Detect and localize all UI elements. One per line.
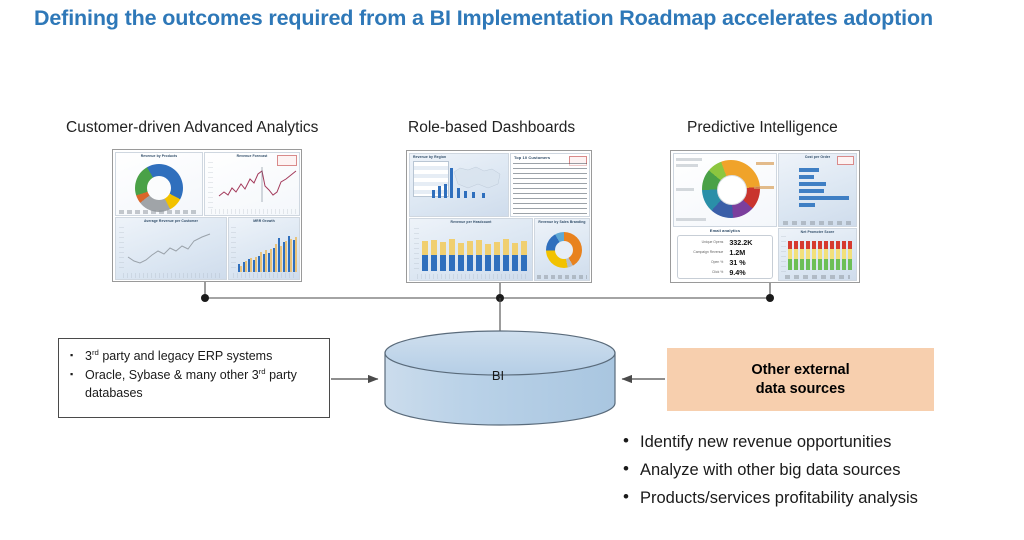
bullet-rest: party and legacy ERP systems [99,349,272,363]
erp-sources-box: 3rd party and legacy ERP systems Oracle,… [58,338,330,418]
list-item: Analyze with other big data sources [640,456,1018,484]
bullet-prefix: Oracle, Sybase & many other 3 [85,368,259,382]
connector-node [201,294,209,302]
bi-label: BI [383,368,613,383]
benefits-list: Identify new revenue opportunities Analy… [618,428,1018,512]
connector-node [766,294,774,302]
list-item: Identify new revenue opportunities [640,428,1018,456]
erp-sources-list: 3rd party and legacy ERP systems Oracle,… [59,339,329,402]
bullet-superscript: rd [259,367,266,376]
benefits-list-wrap: Identify new revenue opportunities Analy… [618,428,1018,512]
bi-cylinder-label-wrap: BI [383,340,613,424]
other-external-data-sources-box: Other external data sources [667,348,934,411]
external-box-line2: data sources [751,380,849,399]
list-item: Products/services profitability analysis [640,484,1018,512]
external-box-line1: Other external [751,361,849,380]
list-item: Oracle, Sybase & many other 3rd party da… [85,366,321,402]
list-item: 3rd party and legacy ERP systems [85,347,321,365]
bullet-superscript: rd [92,348,99,357]
slide-canvas: Defining the outcomes required from a BI… [0,0,1024,540]
bullet-prefix: 3 [85,349,92,363]
external-box-text: Other external data sources [751,361,849,399]
